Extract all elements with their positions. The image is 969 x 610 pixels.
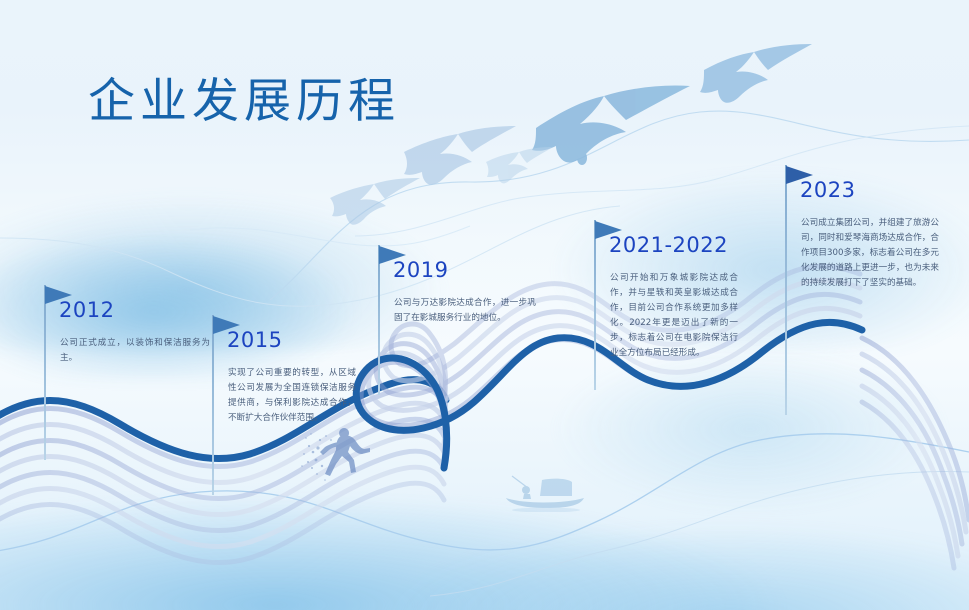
milestone-2015[interactable]: 2015 实现了公司重要的转型，从区域性公司发展为全国连锁保洁服务提供商，与保利… — [212, 315, 372, 515]
milestone-2019[interactable]: 2019 公司与万达影院达成合作，进一步巩固了在影城服务行业的地位。 — [378, 245, 548, 465]
boat-icon — [500, 468, 590, 512]
milestone-description: 公司与万达影院达成合作，进一步巩固了在影城服务行业的地位。 — [394, 296, 536, 326]
page-title: 企业发展历程 — [88, 62, 400, 131]
milestone-2021-2022[interactable]: 2021-2022 公司开始和万象城影院达成合作，并与星轶和英皇影城达成合作，目… — [594, 220, 754, 470]
flagpole — [44, 285, 46, 460]
milestone-year: 2012 — [59, 298, 114, 322]
milestone-description: 公司正式成立，以装饰和保洁服务为主。 — [60, 336, 210, 366]
milestone-year: 2023 — [800, 178, 855, 202]
milestone-2012[interactable]: 2012 公司正式成立，以装饰和保洁服务为主。 — [44, 285, 219, 485]
timeline-poster: 企业发展历程 2012 公司正式成立，以装饰和保洁服务为主。 2015 实现了公… — [0, 0, 969, 610]
milestone-year: 2021-2022 — [609, 233, 728, 257]
flagpole — [378, 245, 380, 395]
flagpole — [212, 315, 214, 495]
milestone-2023[interactable]: 2023 公司成立集团公司，并组建了旅游公司，同时和爱琴海商场达成合作，合作项目… — [785, 165, 960, 415]
milestone-year: 2019 — [393, 258, 448, 282]
milestone-description: 公司开始和万象城影院达成合作，并与星轶和英皇影城达成合作，目前公司合作系统更加多… — [610, 271, 738, 361]
milestone-year: 2015 — [227, 328, 282, 352]
flagpole — [785, 165, 787, 415]
milestone-description: 实现了公司重要的转型，从区域性公司发展为全国连锁保洁服务提供商，与保利影院达成合… — [228, 366, 356, 426]
flagpole — [594, 220, 596, 390]
milestone-description: 公司成立集团公司，并组建了旅游公司，同时和爱琴海商场达成合作，合作项目300多家… — [801, 216, 939, 291]
